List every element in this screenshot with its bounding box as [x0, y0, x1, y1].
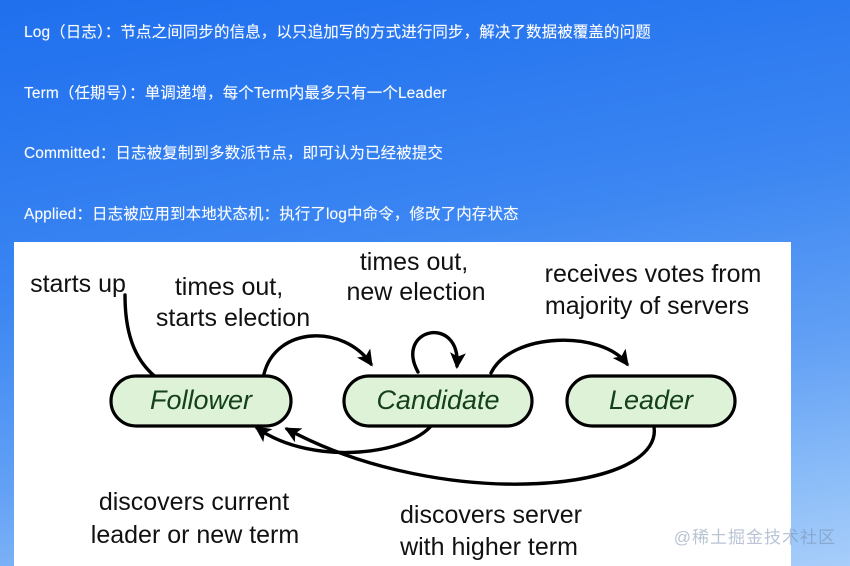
- edge-label-candidate-to-leader-line1: receives votes from: [545, 260, 762, 288]
- state-node-candidate[interactable]: Candidate: [344, 376, 532, 426]
- state-label-leader: Leader: [609, 385, 694, 415]
- raft-state-diagram: Follower Candidate Leader starts up time…: [14, 242, 791, 566]
- edge-label-follower-to-candidate-line1: times out,: [175, 273, 283, 301]
- bullet-applied: Applied：日志被应用到本地状态机：执行了log中命令，修改了内存状态: [24, 206, 830, 225]
- edge-candidate-self-loop: [413, 333, 457, 372]
- state-node-leader[interactable]: Leader: [567, 376, 735, 426]
- edge-label-candidate-self-loop-line2: new election: [347, 278, 486, 306]
- bullet-term: Term（任期号）：单调递增，每个Term内最多只有一个Leader: [24, 85, 830, 104]
- edge-follower-to-candidate: [264, 336, 371, 374]
- state-label-follower: Follower: [150, 385, 253, 415]
- edge-label-candidate-to-leader-line2: majority of servers: [545, 292, 749, 320]
- edge-candidate-to-leader: [491, 340, 627, 373]
- state-node-follower[interactable]: Follower: [111, 376, 291, 426]
- edge-label-startup: starts up: [30, 270, 126, 298]
- edge-label-leader-to-follower-line1: discovers server: [400, 501, 582, 529]
- bullet-log: Log（日志）：节点之间同步的信息，以只追加写的方式进行同步，解决了数据被覆盖的…: [24, 24, 830, 43]
- edge-label-follower-to-candidate-line2: starts election: [156, 304, 310, 332]
- edge-leader-to-follower: [287, 422, 654, 484]
- edge-label-candidate-self-loop-line1: times out,: [360, 248, 468, 276]
- edge-label-candidate-to-follower-line1: discovers current: [99, 488, 289, 516]
- edge-label-leader-to-follower-line2: with higher term: [399, 533, 578, 561]
- edge-label-candidate-to-follower-line2: leader or new term: [91, 521, 299, 549]
- slide-text-block: Log（日志）：节点之间同步的信息，以只追加写的方式进行同步，解决了数据被覆盖的…: [0, 0, 850, 240]
- raft-state-diagram-panel: Follower Candidate Leader starts up time…: [14, 242, 791, 566]
- bullet-committed: Committed：日志被复制到多数派节点，即可认为已经被提交: [24, 145, 830, 164]
- state-label-candidate: Candidate: [376, 385, 499, 415]
